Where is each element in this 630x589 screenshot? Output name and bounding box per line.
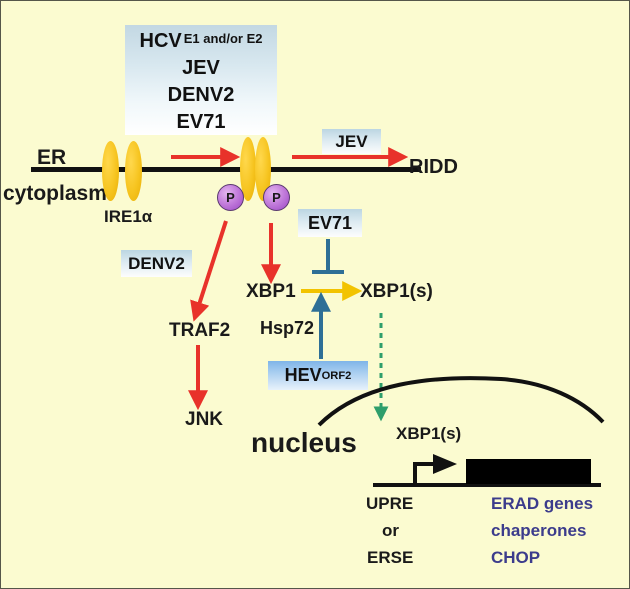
compartment-label-er: ER	[37, 147, 66, 168]
hcv-row: HCV E1 and/or E2	[140, 30, 263, 53]
node-label-xbp1: XBP1	[246, 282, 296, 301]
virus-label-hcv: HCV	[140, 30, 182, 53]
phosphate-circle-right: P	[263, 184, 290, 211]
arrow-ire1a-to-traf2	[197, 221, 226, 311]
compartment-label-cytoplasm: cytoplasm	[3, 183, 107, 204]
target-gene-erad: ERAD genes	[491, 495, 593, 512]
ire1a-monomer-left	[102, 141, 119, 201]
node-label-traf2: TRAF2	[169, 321, 230, 340]
hev-orf2-superscript: ORF2	[322, 370, 352, 382]
ire1a-monomer-right	[125, 141, 142, 201]
promoter-element-upre: UPRE	[366, 495, 413, 512]
gene-body-box	[466, 459, 591, 484]
target-gene-chaperones: chaperones	[491, 522, 586, 539]
virus-panel-upstream: HCV E1 and/or E2 JEV DENV2 EV71	[125, 25, 277, 135]
node-label-hsp72: Hsp72	[260, 319, 314, 337]
node-label-jnk: JNK	[185, 410, 223, 429]
virus-label-ev71: EV71	[298, 209, 362, 237]
promoter-element-erse: ERSE	[367, 549, 413, 566]
virus-label-denv2: DENV2	[121, 250, 192, 277]
hcv-envelope-superscript: E1 and/or E2	[184, 31, 263, 46]
virus-label-denv2-panel: DENV2	[168, 84, 235, 107]
er-membrane	[31, 167, 421, 172]
virus-label-ev71-panel: EV71	[177, 111, 226, 134]
node-label-ridd: RIDD	[409, 157, 458, 177]
transcription-start-arrow	[415, 464, 445, 485]
compartment-label-nucleus: nucleus	[251, 429, 357, 457]
virus-label-hev-text: HEV	[285, 365, 322, 386]
node-label-xbp1s: XBP1(s)	[360, 282, 433, 301]
target-gene-chop: CHOP	[491, 549, 540, 566]
node-label-ire1a: IRE1α	[104, 208, 152, 225]
pathway-diagram: HCV E1 and/or E2 JEV DENV2 EV71 ER cytop…	[0, 0, 630, 589]
virus-label-jev: JEV	[322, 129, 381, 154]
virus-label-hev: HEVORF2	[268, 361, 368, 390]
phosphate-circle-left: P	[217, 184, 244, 211]
promoter-element-or: or	[382, 522, 399, 539]
virus-label-jev-panel: JEV	[182, 57, 220, 80]
node-label-xbp1s-nuclear: XBP1(s)	[396, 425, 461, 442]
